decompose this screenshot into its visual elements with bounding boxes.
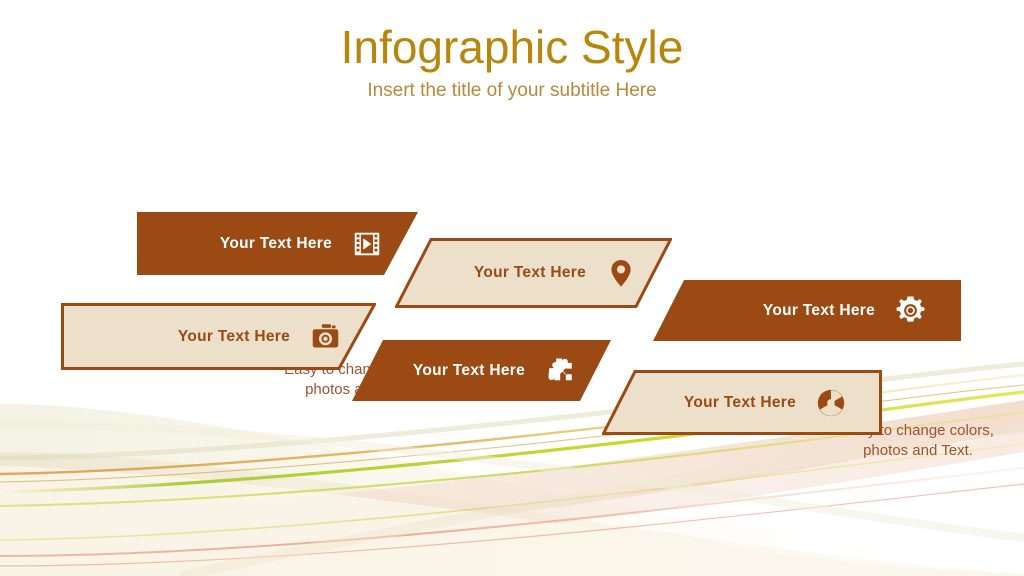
radiation-icon xyxy=(814,386,848,420)
banner-4[interactable]: Your Text Here xyxy=(352,340,611,401)
banner-4-label: Your Text Here xyxy=(413,362,525,380)
banner-1[interactable]: Your Text Here xyxy=(137,212,418,275)
banner-2[interactable]: Your Text Here xyxy=(61,303,376,370)
infographic-item-1: Your Text Here xyxy=(120,205,425,283)
banner-3[interactable]: Your Text Here xyxy=(395,238,672,308)
film-video-icon xyxy=(350,227,384,261)
map-pin-icon xyxy=(604,256,638,290)
gear-icon xyxy=(893,294,927,328)
banner-3-label: Your Text Here xyxy=(474,264,586,282)
infographic-item-5: Your Text Here Easy to change colors, ph… xyxy=(645,274,970,346)
banner-6[interactable]: Your Text Here xyxy=(602,370,882,435)
infographic-item-2: Your Text Here Easy to change colors, ph… xyxy=(55,296,385,376)
page-subtitle: Insert the title of your subtitle Here xyxy=(0,78,1024,104)
infographic-item-6: Your Text Here Easy to change colors, ph… xyxy=(594,364,890,442)
banner-5[interactable]: Your Text Here xyxy=(653,280,961,341)
camera-icon xyxy=(308,320,342,354)
puzzle-piece-icon xyxy=(543,354,577,388)
infographic-item-4: Your Text Here Easy to change colors, ph… xyxy=(344,334,624,408)
slide-header: Infographic Style Insert the title of yo… xyxy=(0,18,1024,104)
banner-6-label: Your Text Here xyxy=(684,394,796,412)
banner-1-label: Your Text Here xyxy=(220,235,332,253)
page-title: Infographic Style xyxy=(0,18,1024,76)
infographic-item-3: Your Text Here Easy to change colors, ph… xyxy=(386,232,681,314)
slide-canvas: Infographic Style Insert the title of yo… xyxy=(0,0,1024,576)
banner-2-label: Your Text Here xyxy=(178,328,290,346)
banner-5-label: Your Text Here xyxy=(763,302,875,320)
